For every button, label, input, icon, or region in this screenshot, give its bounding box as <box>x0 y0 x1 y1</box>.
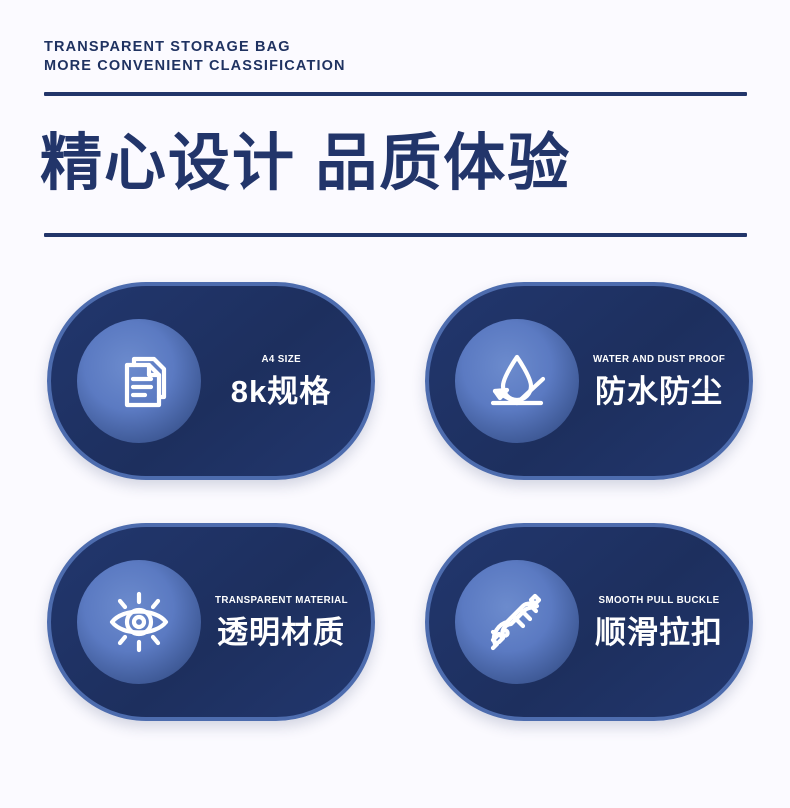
card-english-label: TRANSPARENT MATERIAL <box>215 594 348 606</box>
feature-card: WATER AND DUST PROOF 防水防尘 <box>425 282 753 480</box>
icon-circle <box>77 319 201 443</box>
page-title: 精心设计 品质体验 <box>40 120 571 208</box>
eyebrow-line-2: MORE CONVENIENT CLASSIFICATION <box>44 57 747 76</box>
water-drop-repel-icon <box>481 345 553 417</box>
divider-top <box>44 92 747 96</box>
feature-card-grid: A4 SIZE 8k规格 WATER AND DUST PROOF 防水防尘 <box>47 282 753 721</box>
card-english-label: A4 SIZE <box>261 353 301 365</box>
card-chinese-label: 透明材质 <box>217 615 345 651</box>
zipper-pull-icon <box>481 586 553 658</box>
feature-card: A4 SIZE 8k规格 <box>47 282 375 480</box>
card-english-label: WATER AND DUST PROOF <box>593 353 725 365</box>
card-text-block: A4 SIZE 8k规格 <box>201 353 371 410</box>
feature-card: SMOOTH PULL BUCKLE 顺滑拉扣 <box>425 523 753 721</box>
eye-rays-icon <box>103 586 175 658</box>
card-chinese-label: 防水防尘 <box>595 374 723 410</box>
divider-bottom <box>44 233 747 237</box>
feature-card: TRANSPARENT MATERIAL 透明材质 <box>47 523 375 721</box>
documents-icon <box>103 345 175 417</box>
card-text-block: SMOOTH PULL BUCKLE 顺滑拉扣 <box>579 594 749 651</box>
icon-circle <box>455 560 579 684</box>
card-text-block: TRANSPARENT MATERIAL 透明材质 <box>201 594 371 651</box>
promo-banner: TRANSPARENT STORAGE BAG MORE CONVENIENT … <box>0 0 790 808</box>
icon-circle <box>77 560 201 684</box>
card-chinese-label: 顺滑拉扣 <box>595 615 723 651</box>
icon-circle <box>455 319 579 443</box>
eyebrow-line-1: TRANSPARENT STORAGE BAG <box>44 38 747 57</box>
card-english-label: SMOOTH PULL BUCKLE <box>599 594 720 606</box>
card-chinese-label: 8k规格 <box>231 374 331 410</box>
card-text-block: WATER AND DUST PROOF 防水防尘 <box>579 353 749 410</box>
header-block: TRANSPARENT STORAGE BAG MORE CONVENIENT … <box>44 38 747 76</box>
